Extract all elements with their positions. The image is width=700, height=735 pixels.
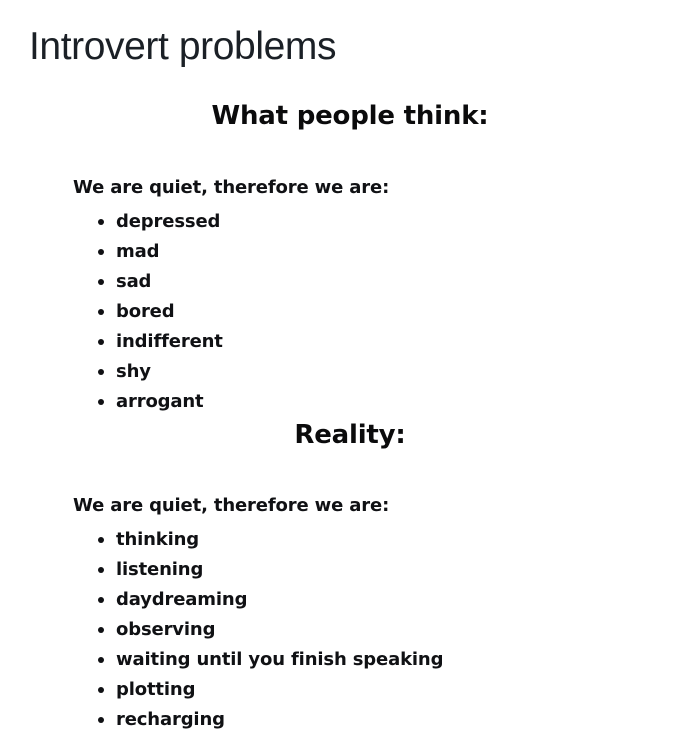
list-item-label: recharging xyxy=(116,705,225,735)
list-item: recharging xyxy=(73,705,633,735)
list-item: bored xyxy=(73,297,633,327)
bullet-icon xyxy=(98,567,104,573)
list-item: plotting xyxy=(73,675,633,705)
list-item-label: sad xyxy=(116,267,151,297)
list-item-label: indifferent xyxy=(116,327,223,357)
list-item-label: listening xyxy=(116,555,203,585)
list-item-label: thinking xyxy=(116,525,199,555)
bullet-icon xyxy=(98,717,104,723)
bullet-icon xyxy=(98,399,104,405)
list-item-label: observing xyxy=(116,615,215,645)
list-item-label: arrogant xyxy=(116,387,204,417)
list-item: sad xyxy=(73,267,633,297)
page-title: Introvert problems xyxy=(29,27,336,68)
list-item-label: daydreaming xyxy=(116,585,247,615)
list-item-label: mad xyxy=(116,237,159,267)
section-block-what-people-think: We are quiet, therefore we are: depresse… xyxy=(73,177,633,417)
list-item-label: plotting xyxy=(116,675,195,705)
bullet-icon xyxy=(98,309,104,315)
list-item-label: waiting until you finish speaking xyxy=(116,645,443,675)
list-item-label: depressed xyxy=(116,207,220,237)
list-item: indifferent xyxy=(73,327,633,357)
bullet-icon xyxy=(98,537,104,543)
list-item: shy xyxy=(73,357,633,387)
list-item: observing xyxy=(73,615,633,645)
list-item: arrogant xyxy=(73,387,633,417)
list-item: listening xyxy=(73,555,633,585)
lead-in-text: We are quiet, therefore we are: xyxy=(73,495,633,517)
bullet-icon xyxy=(98,249,104,255)
list-item: waiting until you finish speaking xyxy=(73,645,633,675)
section-heading-reality: Reality: xyxy=(0,420,700,450)
bullet-icon xyxy=(98,219,104,225)
list-item: thinking xyxy=(73,525,633,555)
bullet-list-reality: thinking listening daydreaming observing… xyxy=(73,525,633,735)
bullet-icon xyxy=(98,627,104,633)
bullet-icon xyxy=(98,369,104,375)
bullet-icon xyxy=(98,687,104,693)
bullet-icon xyxy=(98,597,104,603)
bullet-list-what-people-think: depressed mad sad bored indifferent shy xyxy=(73,207,633,417)
section-heading-what-people-think: What people think: xyxy=(0,101,700,131)
list-item-label: shy xyxy=(116,357,151,387)
list-item-label: bored xyxy=(116,297,174,327)
lead-in-text: We are quiet, therefore we are: xyxy=(73,177,633,199)
meme-image: Introvert problems What people think: We… xyxy=(0,0,700,734)
list-item: depressed xyxy=(73,207,633,237)
bullet-icon xyxy=(98,339,104,345)
bullet-icon xyxy=(98,279,104,285)
bullet-icon xyxy=(98,657,104,663)
list-item: daydreaming xyxy=(73,585,633,615)
section-block-reality: We are quiet, therefore we are: thinking… xyxy=(73,495,633,735)
list-item: mad xyxy=(73,237,633,267)
